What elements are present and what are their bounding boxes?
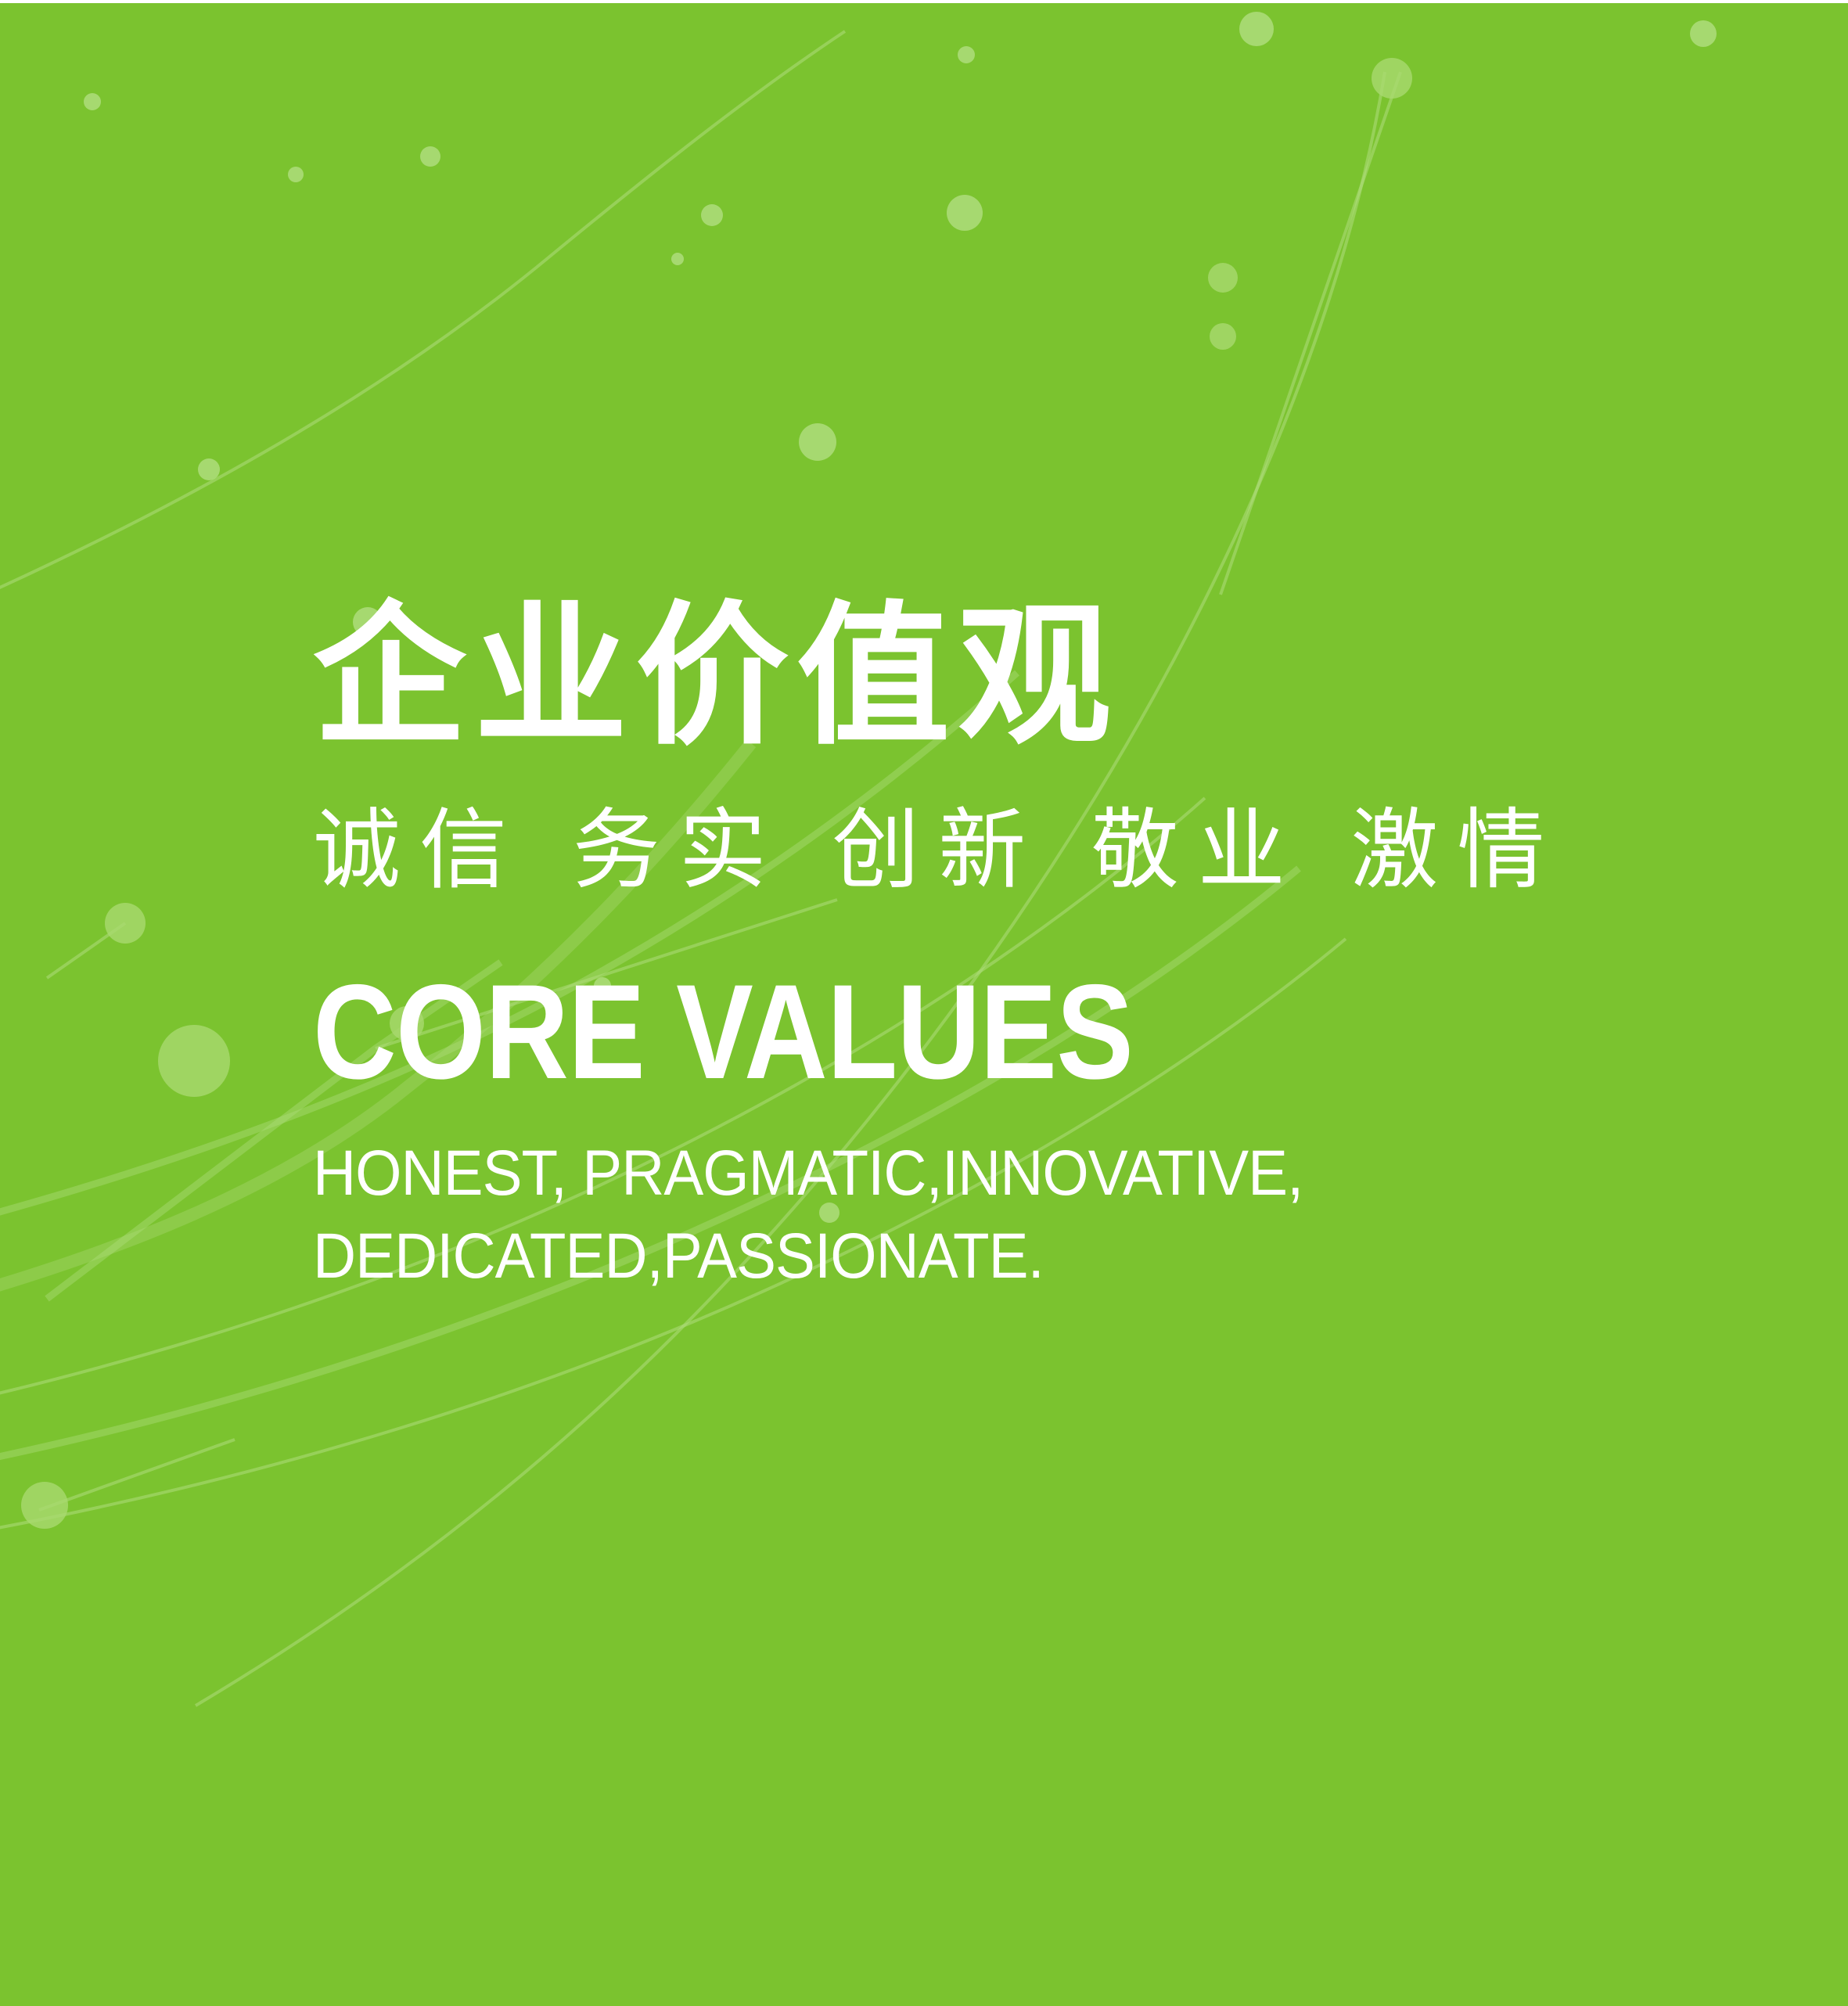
core-values-poster: .ln { fill:none; stroke:#AFDD7C; stroke-… [0,0,1848,2006]
network-node [958,46,975,63]
network-node [1208,263,1238,293]
chinese-subtitle: 诚信 务实 创新 敬业 激情 [313,796,1690,905]
english-body-line-2: DEDICATED,PASSIONATE. [313,1215,1594,1299]
network-node [21,1482,68,1529]
network-node [420,146,440,167]
chinese-title: 企业价值观 [313,595,1690,760]
network-node [84,93,101,110]
english-body-line-1: HONEST, PRAGMATIC,INNOVATIVE, [313,1132,1594,1216]
spur-line-b [47,923,125,978]
network-node [1690,20,1717,47]
english-body: HONEST, PRAGMATIC,INNOVATIVE, DEDICATED,… [313,1132,1594,1299]
network-node [158,1025,230,1097]
network-node [198,458,220,480]
network-node [701,204,723,226]
network-node [947,195,983,231]
network-node [105,903,146,944]
network-node [799,423,836,461]
spur-line-e [1221,72,1400,595]
headline-block: 企业价值观 诚信 务实 创新 敬业 激情 CORE VALUES HONEST,… [313,595,1690,1299]
network-node [1239,12,1274,46]
arc-line-upper-left [0,31,845,595]
network-node [671,253,684,265]
network-node [288,167,304,182]
network-node [1210,323,1236,350]
network-node [1372,58,1412,99]
top-edge-rule [0,0,1848,3]
spur-line-d [39,1440,235,1510]
english-title: CORE VALUES [313,965,1497,1099]
